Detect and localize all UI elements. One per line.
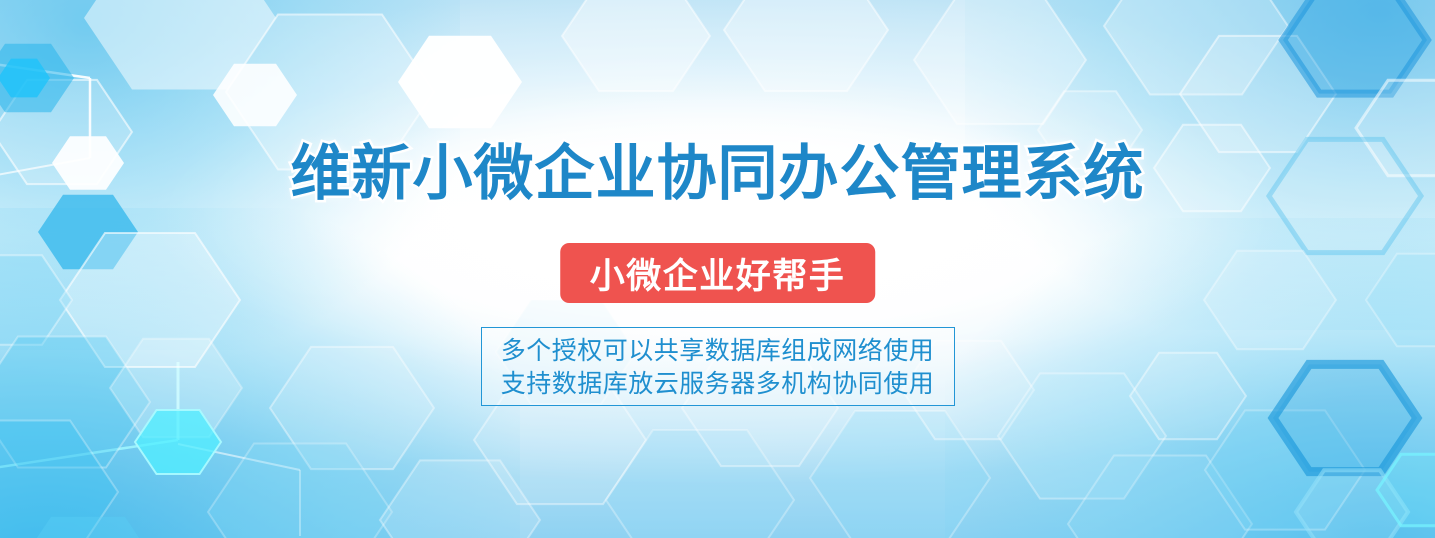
page-title: 维新小微企业协同办公管理系统	[0, 138, 1435, 210]
feature-info-box: 多个授权可以共享数据库组成网络使用 支持数据库放云服务器多机构协同使用	[481, 327, 955, 406]
feature-line-1: 多个授权可以共享数据库组成网络使用	[501, 334, 935, 367]
feature-line-2: 支持数据库放云服务器多机构协同使用	[501, 367, 935, 400]
hero-banner: 维新小微企业协同办公管理系统 小微企业好帮手 多个授权可以共享数据库组成网络使用…	[0, 0, 1435, 538]
banner-content: 维新小微企业协同办公管理系统 小微企业好帮手 多个授权可以共享数据库组成网络使用…	[0, 0, 1435, 538]
status-badge: 小微企业好帮手	[560, 243, 876, 303]
